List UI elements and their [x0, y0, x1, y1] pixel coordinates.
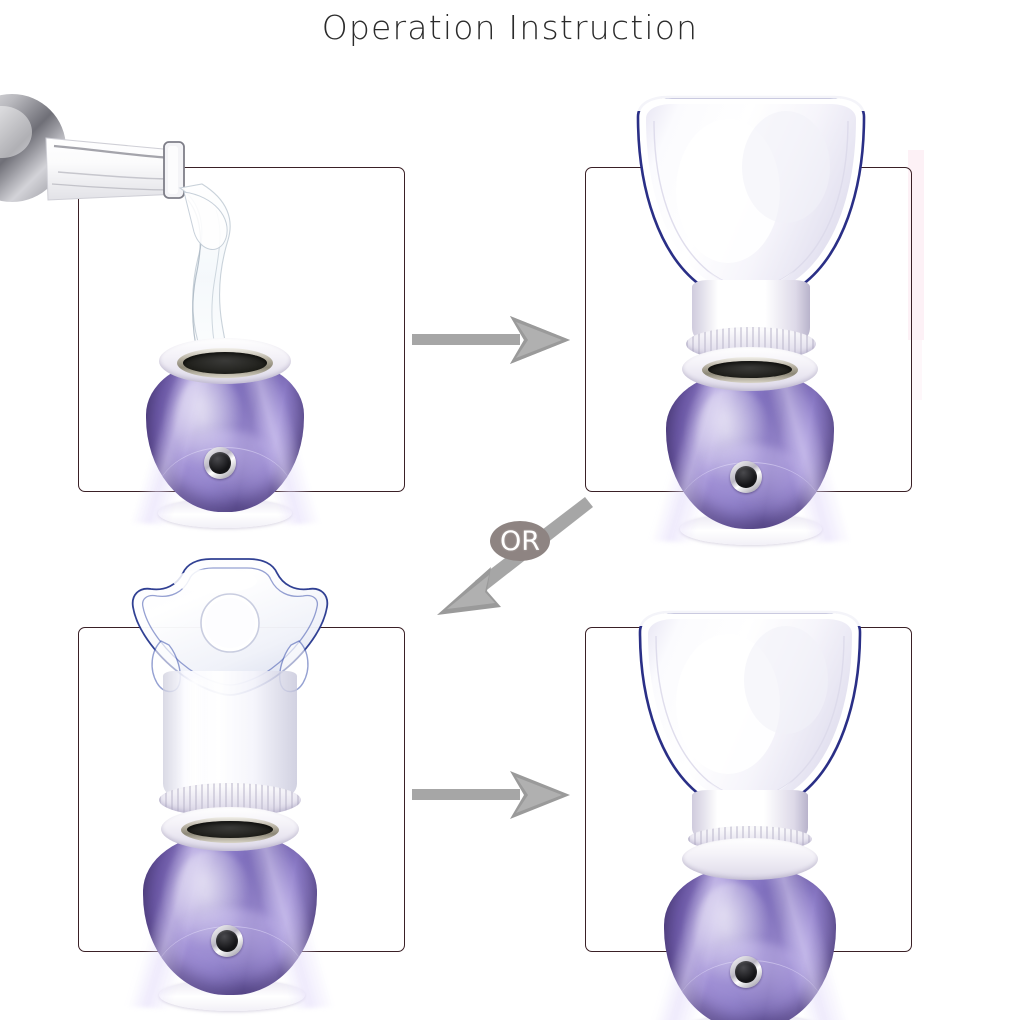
purple-base-body	[143, 833, 317, 995]
step-2-scene	[600, 95, 900, 515]
purple-base-body	[666, 371, 834, 529]
power-button[interactable]	[204, 447, 236, 479]
step-2-device-base	[660, 345, 840, 545]
arrow-step3-to-step4	[412, 765, 572, 825]
step-3-scene	[95, 555, 395, 985]
steel-bowl	[183, 352, 267, 374]
white-rim	[682, 838, 818, 880]
page-title: Operation Instruction	[0, 8, 1020, 47]
arrow-step1-to-step2	[412, 310, 572, 370]
power-button-face	[209, 452, 231, 474]
or-badge-label: OR	[500, 526, 540, 557]
power-button[interactable]	[211, 925, 243, 957]
power-button-face	[216, 930, 238, 952]
pink-bleed-artifact-2	[912, 340, 922, 400]
power-button-face	[735, 961, 757, 983]
power-button-face	[735, 466, 757, 488]
cylinder-gloss	[181, 679, 207, 791]
purple-base-body	[664, 866, 836, 1020]
step-1-device	[140, 338, 310, 528]
power-button[interactable]	[730, 461, 762, 493]
steel-bowl	[708, 361, 792, 378]
step-4-device-base	[658, 838, 844, 1020]
step-3-device-base	[135, 803, 325, 1013]
or-badge: OR	[490, 521, 550, 561]
step-4-scene	[600, 600, 900, 1020]
steel-bowl	[187, 821, 273, 838]
instruction-poster: Operation Instruction	[0, 0, 1020, 1020]
power-button[interactable]	[730, 956, 762, 988]
step-1-scene	[0, 80, 420, 520]
